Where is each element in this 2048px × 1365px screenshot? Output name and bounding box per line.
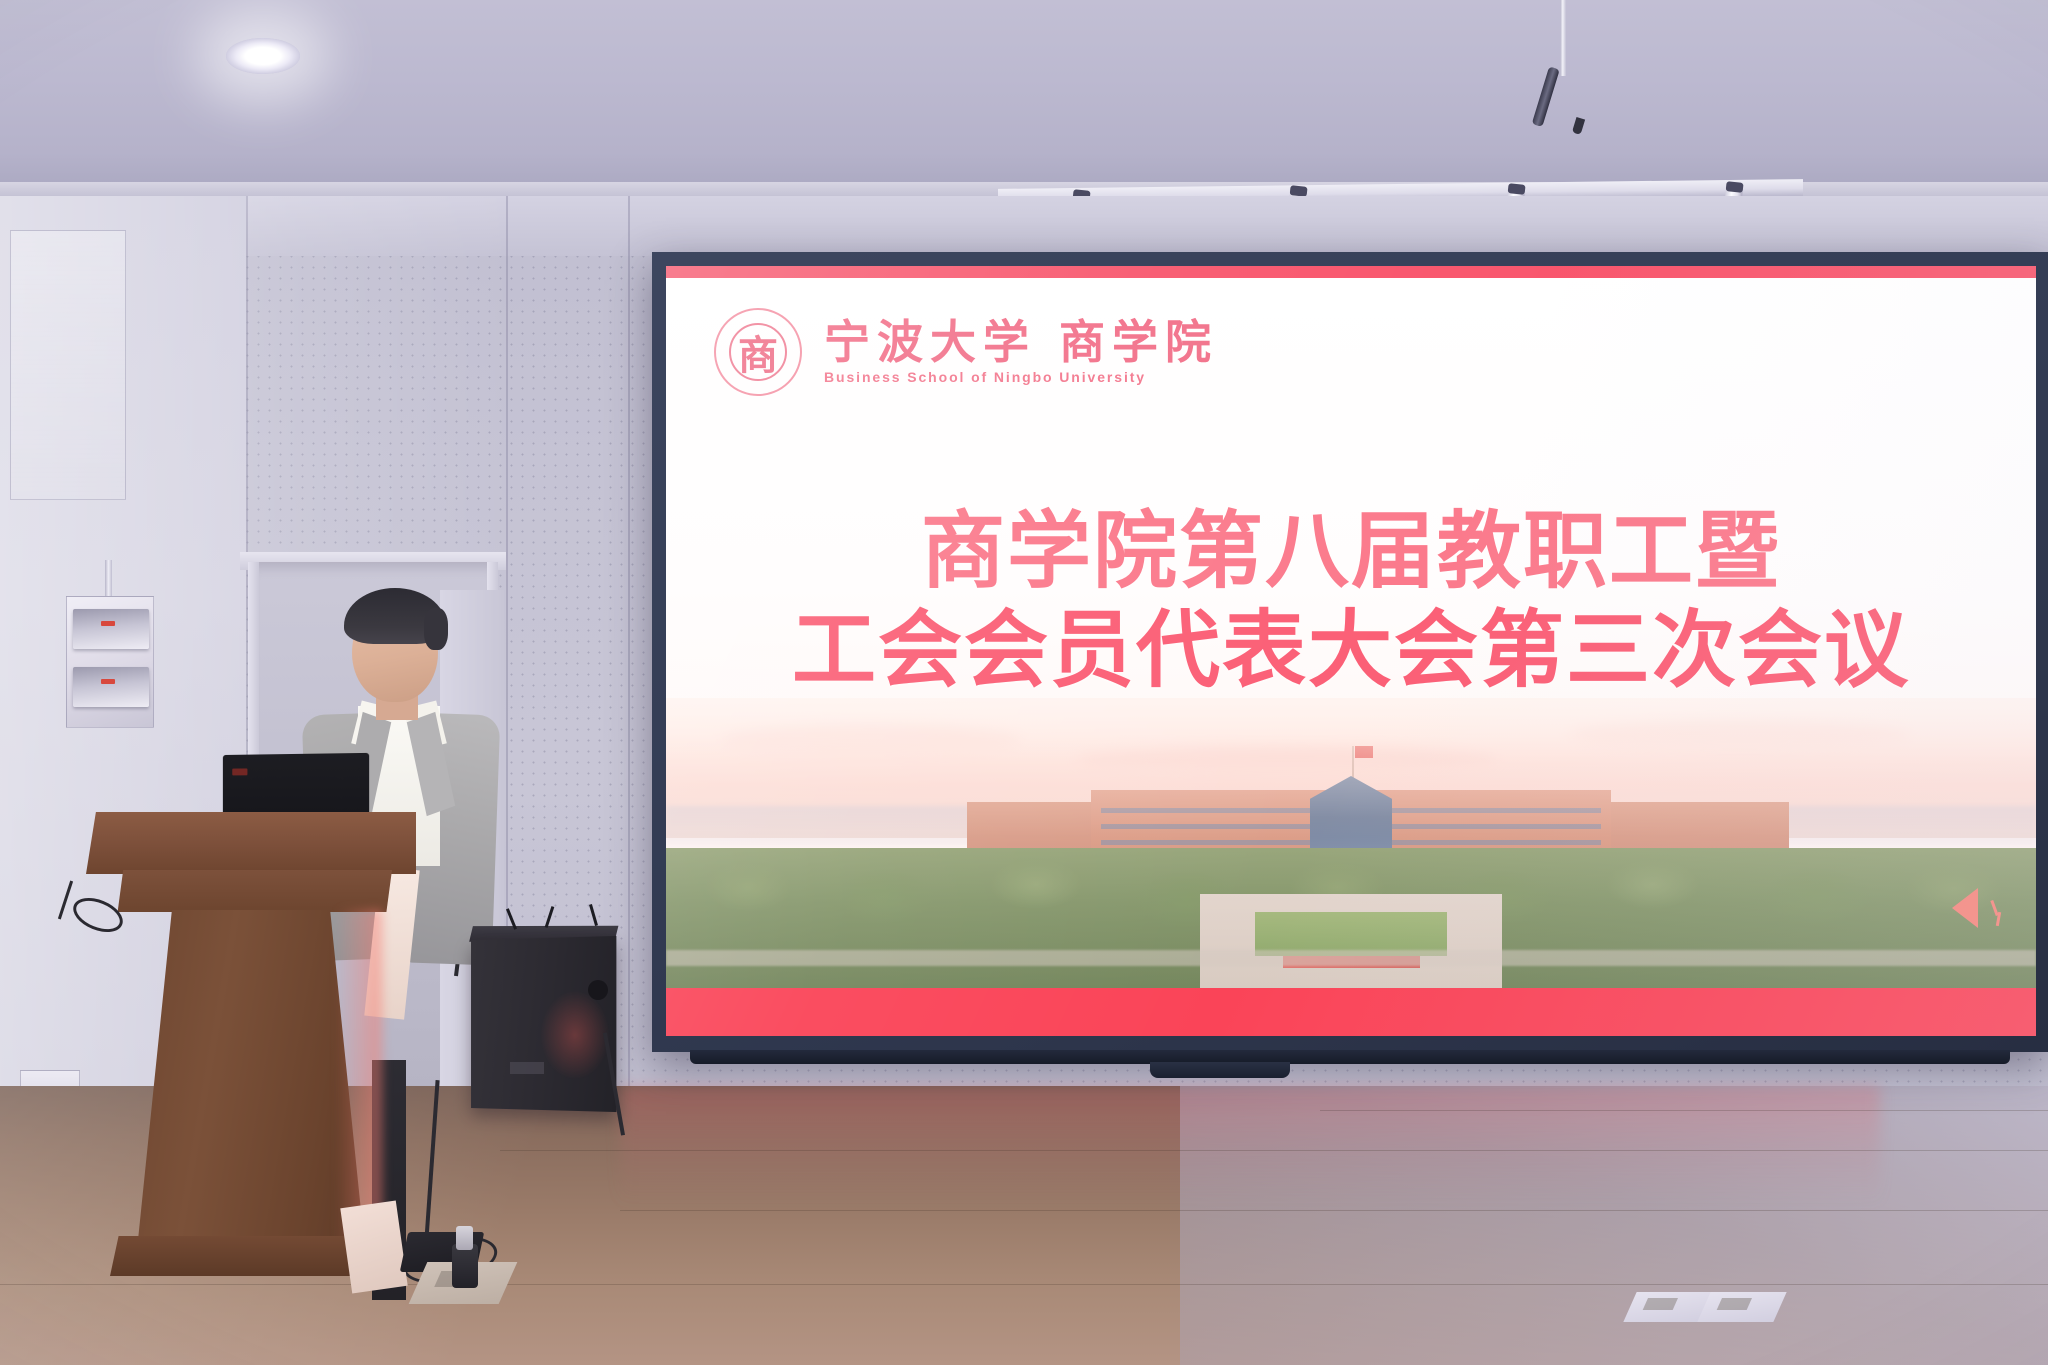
led-display-screen[interactable]: 商 宁波大学 商学院 Business School of Ningbo Uni… (652, 252, 2048, 1052)
podium-edge-glow (336, 910, 382, 1250)
alarm-louver (73, 667, 149, 707)
ceiling (0, 0, 2048, 196)
podium-neck (112, 870, 392, 912)
document-on-floor (340, 1201, 407, 1294)
conference-room-scene: 商 宁波大学 商学院 Business School of Ningbo Uni… (0, 0, 2048, 1365)
hair-side (424, 608, 448, 650)
podium-top (86, 812, 416, 874)
slide-title-line-1: 商学院第八届教职工暨 (666, 502, 2036, 601)
loudspeaker-brand-badge (510, 1062, 544, 1074)
institution-name-cn: 宁波大学 商学院 (824, 319, 1218, 365)
presentation-slide: 商 宁波大学 商学院 Business School of Ningbo Uni… (666, 266, 2036, 1036)
floor-outlet-lid[interactable] (1643, 1298, 1678, 1310)
slide-title-line-2: 工会会员代表大会第三次会议 (666, 601, 2036, 700)
wall-alarm-speaker-icon (66, 596, 154, 728)
photo-color-overlay (666, 698, 2036, 988)
logo-text-block: 宁波大学 商学院 Business School of Ningbo Unive… (824, 319, 1218, 385)
slide-top-accent-bar (666, 266, 2036, 278)
loudspeaker-glow (540, 990, 610, 1080)
floor-seam (1320, 1110, 2048, 1111)
ceiling-boom-pole (1560, 0, 1566, 76)
institution-logo: 商 宁波大学 商学院 Business School of Ningbo Uni… (714, 308, 1218, 396)
slide-bottom-accent-bar (666, 988, 2036, 1036)
institution-name-en: Business School of Ningbo University (824, 369, 1218, 385)
cable-plug-head (456, 1226, 473, 1250)
university-seal-icon: 商 (714, 308, 802, 396)
floor-seam (620, 1210, 2048, 1211)
campus-photo (666, 698, 2036, 988)
screen-glow-reflection (620, 1086, 1880, 1206)
wall-board (10, 230, 126, 500)
display-panel[interactable]: 商 宁波大学 商学院 Business School of Ningbo Uni… (666, 266, 2036, 1036)
alarm-led-indicator (101, 621, 115, 626)
laptop-logo-icon (232, 768, 247, 775)
wall-panel-seam (628, 196, 630, 1086)
speaker-volume-icon (1952, 888, 1978, 928)
cable-plug (452, 1244, 478, 1288)
alarm-louver (73, 609, 149, 649)
display-stand (690, 1050, 2010, 1064)
recessed-downlight-icon (226, 38, 300, 74)
seal-character: 商 (716, 310, 800, 394)
display-foot (1150, 1062, 1290, 1078)
floor-seam (500, 1150, 2048, 1151)
podium-column (138, 910, 364, 1240)
wall-upper-trim (0, 196, 2048, 256)
floor-outlet-box[interactable] (1697, 1292, 1786, 1322)
loudspeaker-port-icon (588, 980, 608, 1000)
floor-outlet-lid[interactable] (1717, 1298, 1752, 1310)
alarm-led-indicator (101, 679, 115, 684)
